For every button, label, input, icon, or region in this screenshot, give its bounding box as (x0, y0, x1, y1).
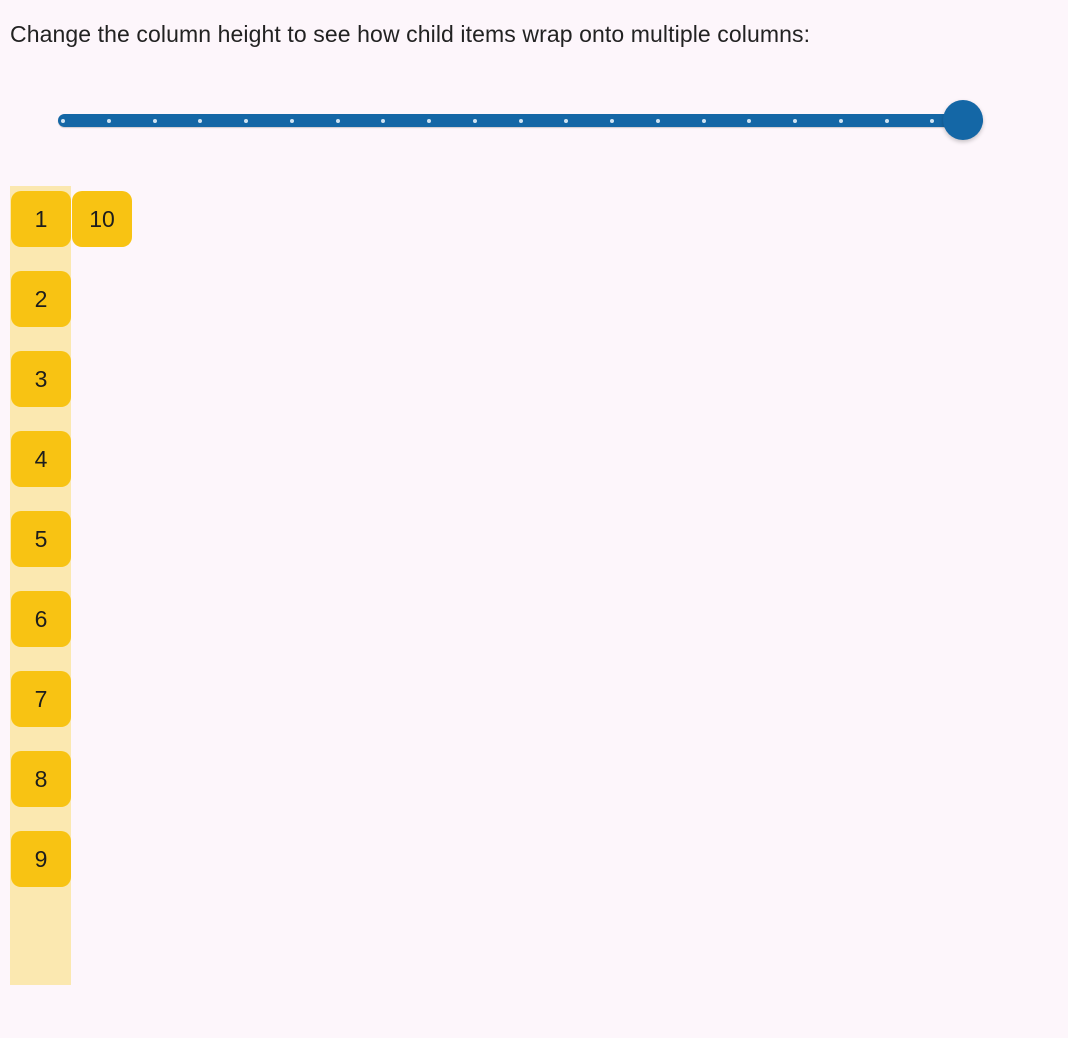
column-item: 5 (11, 511, 71, 567)
slider-track[interactable] (58, 114, 983, 127)
column-item-label: 9 (35, 846, 48, 873)
column-item-label: 4 (35, 446, 48, 473)
page-title: Change the column height to see how chil… (10, 17, 810, 51)
slider-thumb[interactable] (943, 100, 983, 140)
column-item-label: 3 (35, 366, 48, 393)
column-item: 6 (11, 591, 71, 647)
column-item: 3 (11, 351, 71, 407)
column-item-label: 5 (35, 526, 48, 553)
column-item: 2 (11, 271, 71, 327)
column-item: 9 (11, 831, 71, 887)
column-item-label: 10 (89, 206, 115, 233)
column-item: 1 (11, 191, 71, 247)
column-item: 7 (11, 671, 71, 727)
column-height-slider[interactable] (58, 100, 983, 142)
column-item: 10 (72, 191, 132, 247)
wrapping-flex-column: 12345678910 (10, 186, 71, 985)
column-item-label: 8 (35, 766, 48, 793)
column-item-label: 6 (35, 606, 48, 633)
column-item-label: 2 (35, 286, 48, 313)
column-item: 8 (11, 751, 71, 807)
column-item: 4 (11, 431, 71, 487)
column-item-label: 1 (35, 206, 48, 233)
column-item-label: 7 (35, 686, 48, 713)
